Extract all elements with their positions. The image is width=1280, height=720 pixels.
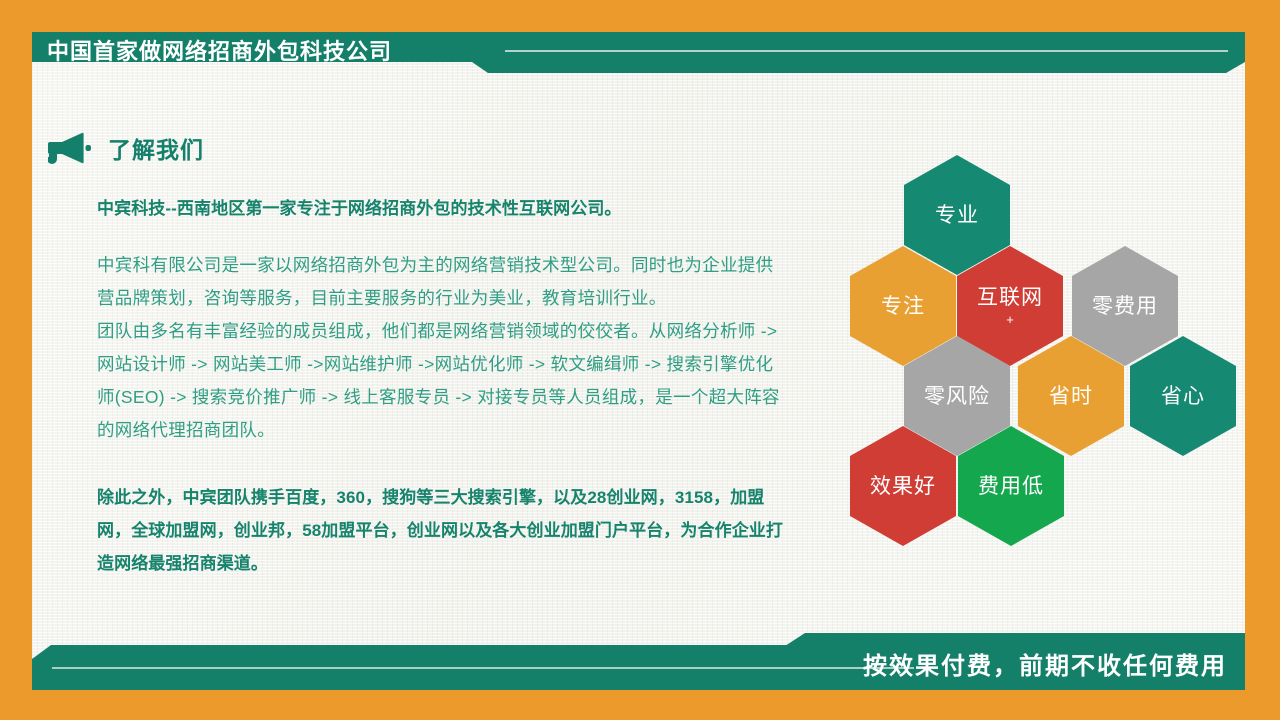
hexagon-label: 效果好 [870, 474, 936, 499]
footer-divider-line [52, 667, 914, 669]
hexagon-label: 省时 [1049, 384, 1093, 409]
hexagon-label: 省心 [1161, 384, 1205, 409]
footer-bar-slant [785, 633, 1245, 646]
hexagon-cluster: 专业专注互联网+零费用零风险省时省心效果好费用低 [832, 155, 1232, 540]
hexagon-label: 专业 [935, 203, 979, 228]
section-heading-label: 了解我们 [108, 131, 204, 165]
hexagon-label: 费用低 [978, 474, 1044, 499]
header-divider-line [505, 50, 1228, 52]
hexagon-label: 互联网 [977, 285, 1043, 310]
megaphone-icon [48, 131, 92, 165]
section-heading: 了解我们 [48, 131, 204, 165]
hexagon-label: 专注 [881, 294, 925, 319]
body-paragraph-2: 团队由多名有丰富经验的成员组成，他们都是网络营销领域的佼佼者。从网络分析师 ->… [97, 315, 787, 447]
body-lead: 中宾科技--西南地区第一家专注于网络招商外包的技术性互联网公司。 [97, 192, 787, 225]
footer-text: 按效果付费，前期不收任何费用 [863, 648, 1227, 686]
hexagon-sublabel: + [1006, 312, 1014, 328]
slide-canvas: 中国首家做网络招商外包科技公司 了解我们 中宾科技--西南地区第一家专注于网络招… [0, 0, 1280, 720]
body-tail: 除此之外，中宾团队携手百度，360，搜狗等三大搜索引擎，以及28创业网，3158… [97, 481, 787, 580]
body-paragraph-1: 中宾科有限公司是一家以网络招商外包为主的网络营销技术型公司。同时也为企业提供营品… [97, 249, 787, 315]
header-title: 中国首家做网络招商外包科技公司 [47, 36, 392, 68]
about-body: 中宾科技--西南地区第一家专注于网络招商外包的技术性互联网公司。 中宾科有限公司… [97, 192, 787, 580]
hexagon-label: 零风险 [924, 384, 990, 409]
hexagon-label: 零费用 [1092, 294, 1158, 319]
